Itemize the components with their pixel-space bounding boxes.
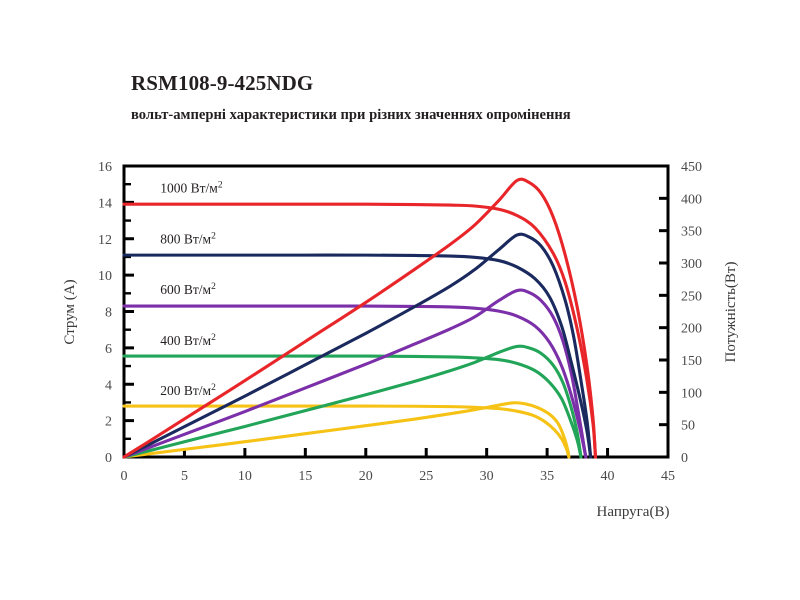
x-tick-label: 45 — [661, 469, 675, 484]
series-label-600: 600 Вт/м2 — [160, 282, 216, 297]
iv-curve-600 — [124, 306, 586, 457]
y-right-tick-label: 200 — [681, 322, 702, 337]
y-right-tick-label: 50 — [681, 419, 695, 434]
series-label-800: 800 Вт/м2 — [160, 231, 216, 246]
y-left-tick-label: 12 — [98, 233, 112, 248]
y-left-tick-label: 14 — [98, 196, 112, 211]
y-left-tick-label: 16 — [98, 160, 112, 175]
series-label-1000: 1000 Вт/м2 — [160, 180, 223, 195]
y-right-tick-label: 300 — [681, 257, 702, 272]
x-tick-label: 0 — [121, 469, 128, 484]
series-label-200: 200 Вт/м2 — [160, 383, 216, 398]
y-left-tick-label: 0 — [105, 451, 112, 466]
y-left-tick-label: 10 — [98, 269, 112, 284]
y-right-tick-labels: 050100150200250300350400450 — [681, 160, 702, 466]
y-right-tick-label: 350 — [681, 225, 702, 240]
x-tick-label: 5 — [181, 469, 188, 484]
x-tick-labels: 051015202530354045 — [121, 469, 676, 484]
y-right-tick-label: 100 — [681, 386, 702, 401]
y-left-tick-labels: 0246810121416 — [98, 160, 112, 466]
x-tick-label: 25 — [419, 469, 433, 484]
x-axis-title: Напруга(В) — [597, 504, 670, 520]
y-left-tick-label: 2 — [105, 415, 112, 430]
x-tick-label: 40 — [601, 469, 615, 484]
y-right-tick-label: 150 — [681, 354, 702, 369]
x-tick-label: 35 — [540, 469, 554, 484]
x-tick-label: 10 — [238, 469, 252, 484]
y-axis-right-title: Потужність(Вт) — [723, 262, 739, 363]
x-tick-label: 30 — [480, 469, 494, 484]
pv-curve-200 — [124, 403, 569, 457]
series-annotations: 1000 Вт/м2800 Вт/м2600 Вт/м2400 Вт/м2200… — [160, 180, 223, 398]
y-left-tick-label: 4 — [105, 378, 112, 393]
chart-figure: RSM108-9-425NDG вольт-амперні характерис… — [0, 0, 800, 600]
series-label-400: 400 Вт/м2 — [160, 333, 216, 348]
iv-pv-plot: 051015202530354045 0246810121416 0501001… — [0, 0, 800, 600]
y-right-tick-label: 450 — [681, 160, 702, 175]
y-axis-left-title: Струм (А) — [62, 279, 78, 344]
x-tick-label: 20 — [359, 469, 373, 484]
y-right-tick-label: 400 — [681, 192, 702, 207]
x-tick-label: 15 — [298, 469, 312, 484]
y-left-tick-label: 8 — [105, 306, 112, 321]
y-right-tick-label: 0 — [681, 451, 688, 466]
data-curves — [124, 179, 595, 457]
y-right-tick-label: 250 — [681, 289, 702, 304]
y-left-tick-label: 6 — [105, 342, 112, 357]
